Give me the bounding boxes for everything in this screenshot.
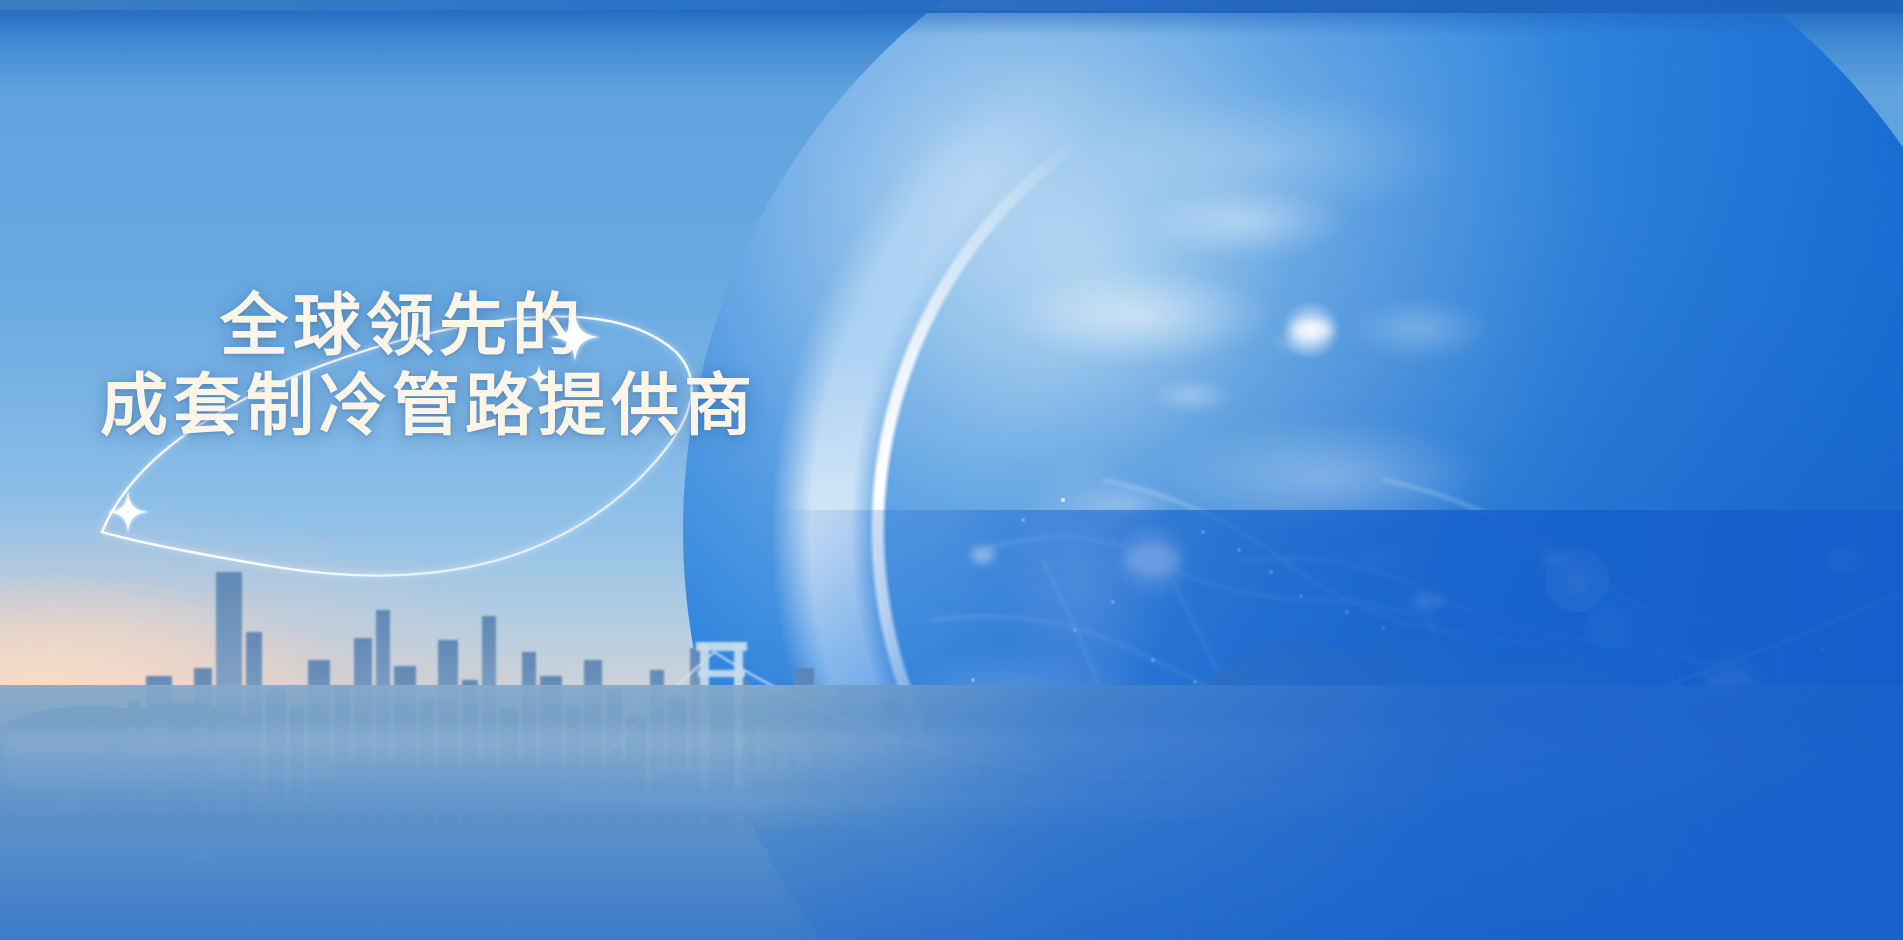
top-accent-fade: [0, 10, 1903, 36]
hero-text-block: 全球领先的 成套制冷管路提供商: [100, 286, 800, 586]
sparkle-star-small: [524, 362, 554, 392]
sparkle-star-medium: [104, 488, 152, 536]
headline-line-1: 全球领先的: [100, 286, 800, 366]
hero-banner: 全球领先的 成套制冷管路提供商: [0, 0, 1903, 940]
page-title: 全球领先的 成套制冷管路提供商: [100, 286, 800, 446]
headline-line-2: 成套制冷管路提供商: [100, 366, 800, 446]
blue-overlay-bottom: [0, 740, 1903, 940]
sparkle-star-large: [546, 308, 604, 366]
